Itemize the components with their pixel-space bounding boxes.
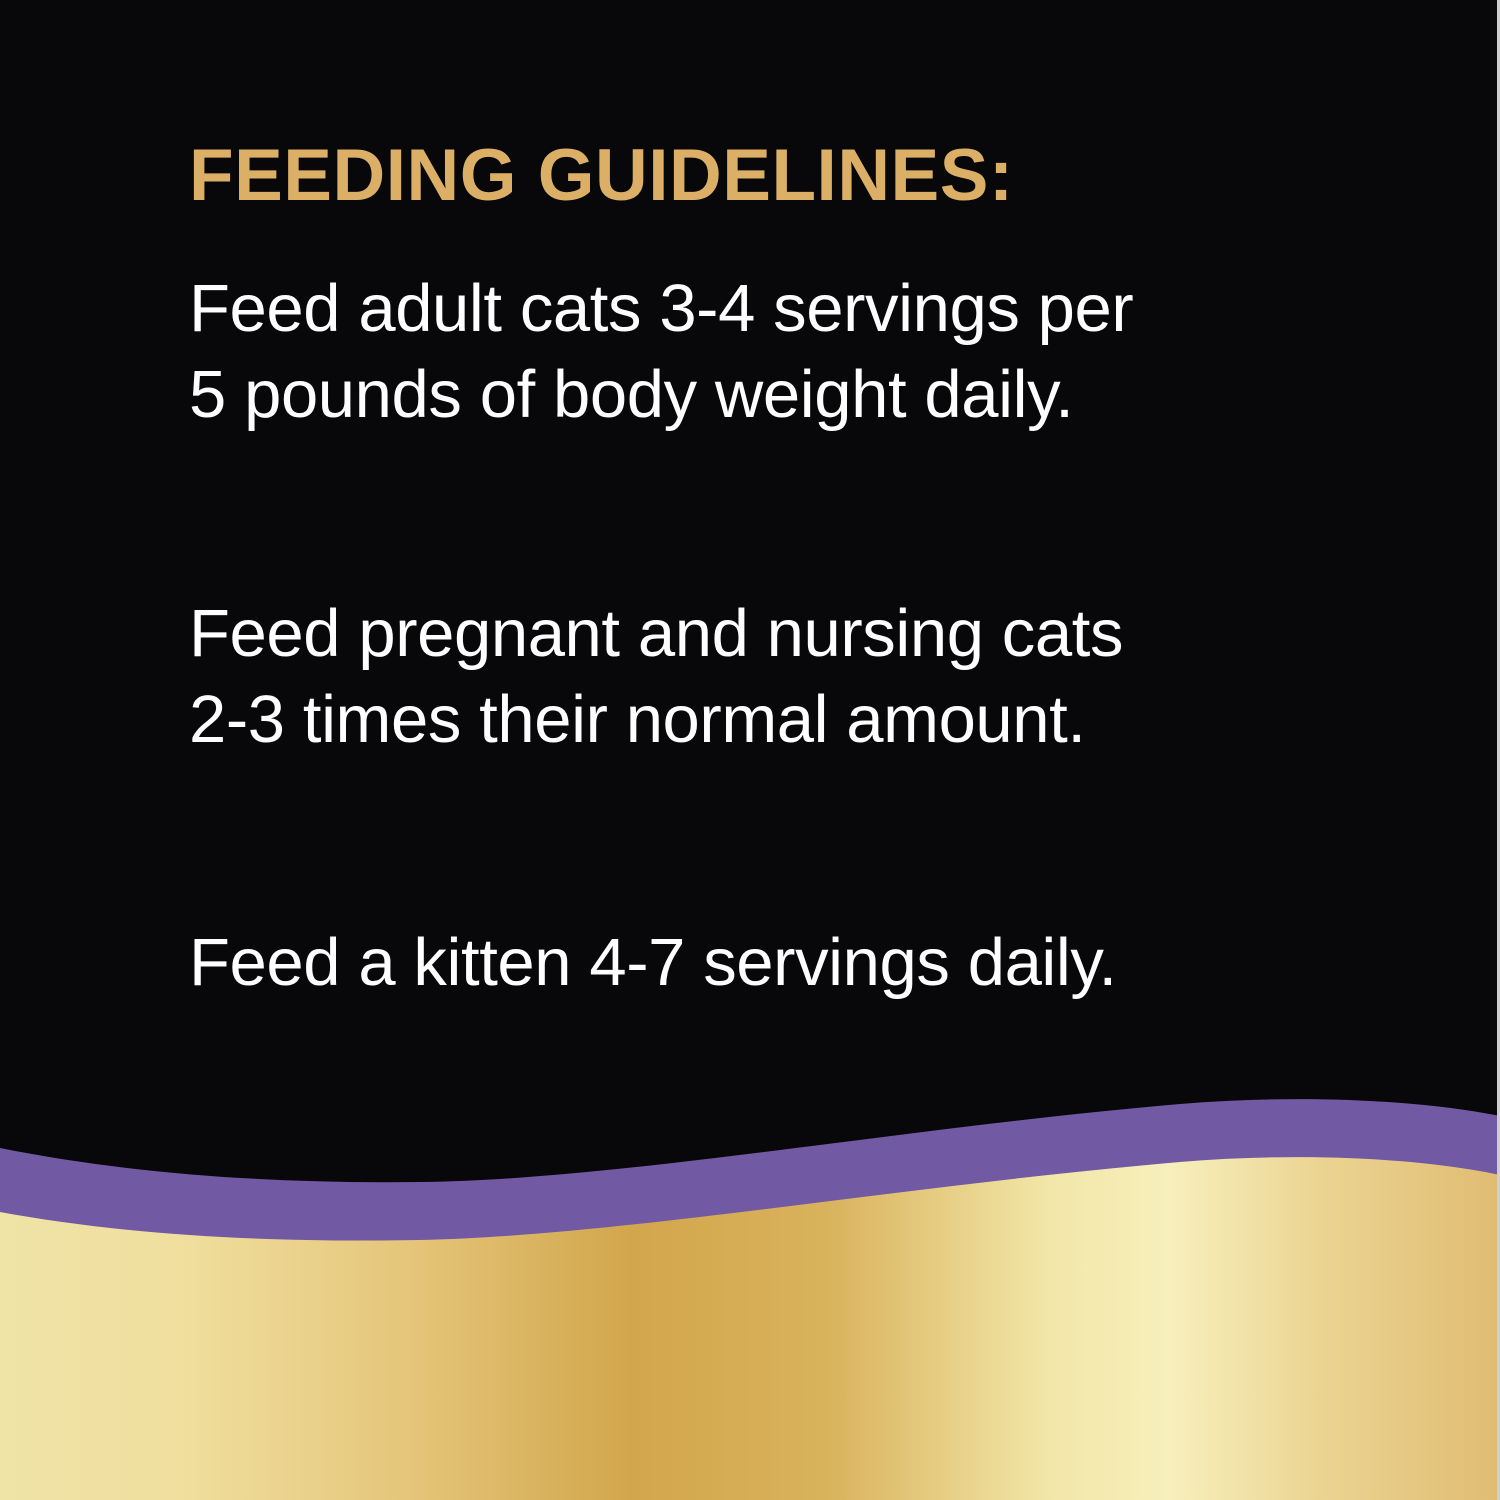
guideline-adult-cats-line-2: 5 pounds of body weight daily. — [189, 352, 1133, 438]
feeding-guidelines-panel: FEEDING GUIDELINES: Feed adult cats 3-4 … — [0, 0, 1500, 1500]
guideline-pregnant-nursing-cats-line-2: 2-3 times their normal amount. — [189, 677, 1123, 763]
guideline-pregnant-nursing-cats: Feed pregnant and nursing cats 2-3 times… — [189, 591, 1123, 763]
guideline-kitten-line-1: Feed a kitten 4-7 servings daily. — [189, 920, 1117, 1006]
guideline-adult-cats-line-1: Feed adult cats 3-4 servings per — [189, 266, 1133, 352]
guideline-adult-cats: Feed adult cats 3-4 servings per 5 pound… — [189, 266, 1133, 438]
guideline-kitten: Feed a kitten 4-7 servings daily. — [189, 920, 1117, 1006]
guideline-pregnant-nursing-cats-line-1: Feed pregnant and nursing cats — [189, 591, 1123, 677]
page-title: FEEDING GUIDELINES: — [189, 139, 1014, 212]
decorative-wave-graphic — [0, 1080, 1500, 1500]
